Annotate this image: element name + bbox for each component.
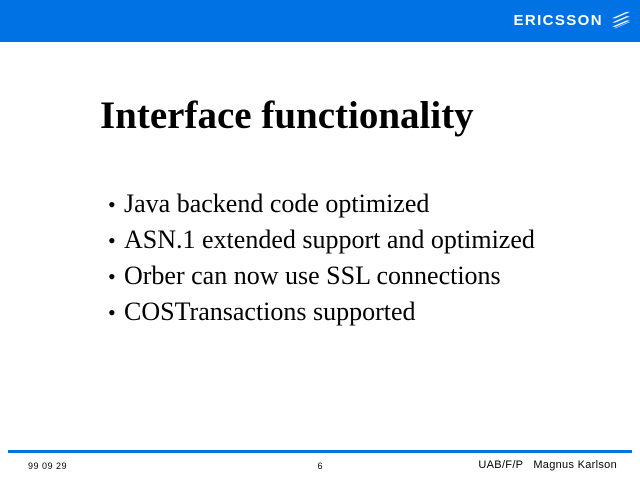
presentation-slide: ERICSSON Interface functionality • Java … [0,0,640,480]
footer-author-name: Magnus Karlson [533,459,617,471]
ericsson-wordmark: ERICSSON [513,13,603,28]
list-item-label: COSTransactions supported [124,294,416,329]
bullet-marker-icon: • [108,259,124,294]
page-title: Interface functionality [100,96,474,135]
list-item: • Java backend code optimized [108,186,535,222]
list-item: • Orber can now use SSL connections [108,258,535,294]
bullet-marker-icon: • [108,223,124,258]
bullet-marker-icon: • [108,187,124,222]
footer: 99 09 29 6 UAB/F/PMagnus Karlson [0,458,640,476]
list-item-label: Java backend code optimized [124,186,429,221]
footer-author-block: UAB/F/PMagnus Karlson [478,459,617,471]
footer-unit-label: UAB/F/P [478,459,523,471]
list-item-label: Orber can now use SSL connections [124,258,501,293]
bullet-marker-icon: • [108,295,124,330]
ericsson-three-stripes-icon [610,9,632,31]
footer-divider [8,450,632,453]
list-item: • ASN.1 extended support and optimized [108,222,535,258]
list-item: • COSTransactions supported [108,294,535,330]
header-bar: ERICSSON [0,0,640,42]
list-item-label: ASN.1 extended support and optimized [124,222,535,257]
bullet-list: • Java backend code optimized • ASN.1 ex… [108,186,535,330]
ericsson-brand: ERICSSON [513,9,632,31]
